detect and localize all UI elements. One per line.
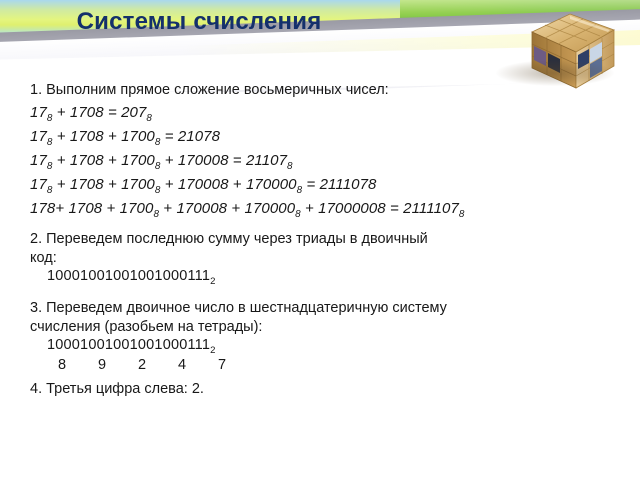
step1-heading: 1. Выполним прямое сложение восьмеричных…	[30, 82, 389, 98]
step3-binary-value: 100010010010010001112	[47, 337, 216, 356]
step3-heading-line1: 3. Переведем двоичное число в шестнадцат…	[30, 300, 447, 316]
equation-3: 178 + 1708 + 17008 + 170008 = 211078	[30, 152, 293, 172]
step3-binary-digits: 10001001001001000111	[47, 337, 210, 353]
equation-token: 21107	[246, 152, 287, 169]
equation-token: 207	[121, 104, 146, 121]
equation-token: 8	[219, 200, 227, 217]
equation-token: 17	[30, 176, 47, 193]
equation-token: 8	[220, 176, 228, 193]
equation-token: 178	[30, 200, 55, 217]
equation-1: 178 + 1708 = 2078	[30, 104, 152, 124]
equation-token: 8	[95, 176, 103, 193]
equation-token: 17	[30, 104, 47, 121]
equation-token: +	[102, 200, 119, 217]
equation-token: 170	[70, 128, 95, 145]
equation-token: 1700	[121, 152, 155, 169]
equation-token: +	[55, 200, 68, 217]
equation-base: 8	[146, 113, 152, 124]
step3-hex-digit-row: 89247	[42, 357, 242, 373]
step2-binary-digits: 10001001001001000111	[47, 268, 210, 284]
equation-token: +	[104, 128, 121, 145]
step2-heading-line1: 2. Переведем последнюю сумму через триад…	[30, 231, 428, 247]
equation-token: 8	[95, 128, 103, 145]
step2-binary-base: 2	[210, 276, 216, 287]
hex-digit-3: 4	[162, 357, 202, 373]
equation-token: +	[52, 104, 69, 121]
equation-token: 170000	[246, 176, 297, 193]
equation-2: 178 + 1708 + 17008 = 21078	[30, 128, 220, 148]
equation-token: 1700000	[318, 200, 377, 217]
equation-token: +	[104, 176, 121, 193]
equation-token: +	[301, 200, 318, 217]
equation-token: 8	[377, 200, 385, 217]
equation-token: 8	[95, 152, 103, 169]
equation-token: =	[386, 200, 403, 217]
equation-token: 17	[30, 152, 47, 169]
hex-digit-4: 7	[202, 357, 242, 373]
equation-token: 170	[68, 200, 93, 217]
equation-token: +	[52, 152, 69, 169]
step3-heading-line2: счисления (разобьем на тетрады):	[30, 319, 262, 335]
equation-token: 1700	[121, 128, 155, 145]
equation-token: 2107	[178, 128, 212, 145]
equation-token: 170	[70, 104, 95, 121]
equation-token: 170	[70, 176, 95, 193]
equation-token: 8	[95, 104, 103, 121]
slide-root: Системы счисления	[0, 0, 640, 480]
slide-body: 1. Выполним прямое сложение восьмеричных…	[0, 0, 640, 480]
equation-token: 211107	[320, 176, 368, 193]
equation-token: =	[229, 152, 246, 169]
equation-token: 170000	[245, 200, 296, 217]
equation-token: 8	[212, 128, 220, 145]
equation-token: 1700	[120, 200, 154, 217]
equation-token: +	[159, 200, 176, 217]
equation-token: 17000	[178, 176, 220, 193]
equation-token: 1700	[121, 176, 155, 193]
step4-heading: 4. Третья цифра слева: 2.	[30, 381, 204, 397]
equation-5: 178+ 1708 + 17008 + 170008 + 1700008 + 1…	[30, 200, 465, 220]
equation-token: 8	[368, 176, 376, 193]
equation-token: +	[104, 152, 121, 169]
equation-token: +	[52, 176, 69, 193]
equation-token: +	[160, 176, 177, 193]
equation-token: =	[160, 128, 177, 145]
equation-token: 8	[220, 152, 228, 169]
step2-binary-value: 100010010010010001112	[47, 268, 216, 287]
equation-token: +	[229, 176, 246, 193]
equation-token: +	[227, 200, 244, 217]
equation-token: =	[302, 176, 319, 193]
equation-token: 170	[70, 152, 95, 169]
equation-token: 17	[30, 128, 47, 145]
hex-digit-1: 9	[82, 357, 122, 373]
equation-token: 8	[94, 200, 102, 217]
equation-token: 17000	[178, 152, 220, 169]
equation-token: 17000	[176, 200, 218, 217]
equation-4: 178 + 1708 + 17008 + 170008 + 1700008 = …	[30, 176, 376, 196]
step3-binary-base: 2	[210, 345, 216, 356]
equation-token: +	[160, 152, 177, 169]
equation-token: =	[104, 104, 121, 121]
equation-token: +	[52, 128, 69, 145]
equation-base: 8	[287, 161, 293, 172]
hex-digit-0: 8	[42, 357, 82, 373]
step2-heading-line2: код:	[30, 250, 57, 266]
equation-base: 8	[459, 209, 465, 220]
hex-digit-2: 2	[122, 357, 162, 373]
equation-token: 2111107	[403, 200, 459, 217]
